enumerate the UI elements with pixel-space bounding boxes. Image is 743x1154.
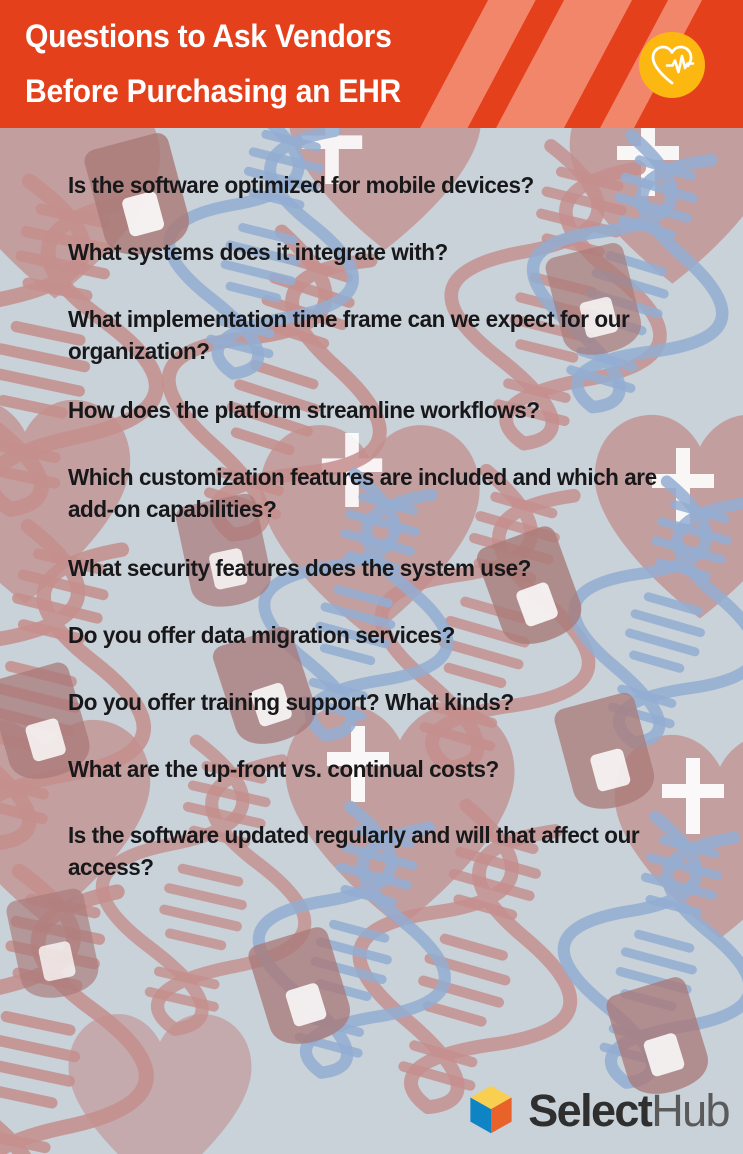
- selecthub-wordmark: SelectHub: [528, 1088, 729, 1133]
- question-item: What systems does it integrate with?: [68, 237, 674, 269]
- question-item: What are the up-front vs. continual cost…: [68, 754, 674, 786]
- question-item: Which customization features are include…: [68, 462, 674, 526]
- question-item: Do you offer training support? What kind…: [68, 687, 674, 719]
- question-item: How does the platform streamline workflo…: [68, 395, 674, 427]
- heart-pulse-icon: [649, 44, 695, 86]
- poster-header: Questions to Ask Vendors Before Purchasi…: [0, 0, 743, 128]
- question-item: Is the software optimized for mobile dev…: [68, 170, 674, 202]
- question-item: Is the software updated regularly and wi…: [68, 820, 674, 884]
- brand-name-secondary: Hub: [651, 1088, 729, 1133]
- page-title-line-2: Before Purchasing an EHR: [25, 64, 514, 119]
- page-title-line-1: Questions to Ask Vendors: [25, 9, 514, 64]
- page-title: Questions to Ask Vendors Before Purchasi…: [25, 9, 514, 119]
- selecthub-cube-icon: [465, 1084, 517, 1136]
- question-item: What implementation time frame can we ex…: [68, 304, 674, 368]
- infographic-poster: Questions to Ask Vendors Before Purchasi…: [0, 0, 743, 1154]
- brand-name-primary: Select: [528, 1088, 651, 1133]
- questions-list: Is the software optimized for mobile dev…: [0, 128, 743, 1154]
- question-item: What security features does the system u…: [68, 553, 674, 585]
- question-item: Do you offer data migration services?: [68, 620, 674, 652]
- heart-pulse-badge: [639, 32, 705, 98]
- selecthub-logo[interactable]: SelectHub: [465, 1084, 729, 1136]
